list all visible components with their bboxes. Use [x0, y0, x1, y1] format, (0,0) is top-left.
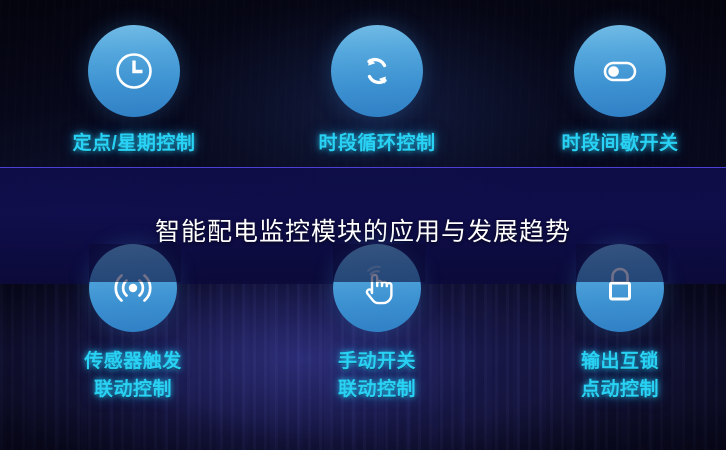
sensor-signal-icon [107, 262, 159, 314]
feature-tile-interlock[interactable]: 输出互锁 点动控制 [520, 244, 720, 403]
feature-tile-cycle[interactable]: 时段循环控制 [277, 25, 477, 158]
clock-icon [109, 46, 159, 96]
feature-label: 手动开关 联动控制 [277, 348, 477, 403]
feature-tile-intermittent[interactable]: 时段间歇开关 [520, 25, 720, 158]
feature-icon-circle [576, 244, 664, 332]
feature-tile-manual[interactable]: 手动开关 联动控制 [277, 244, 477, 403]
feature-icon-circle [574, 25, 666, 117]
slide-canvas: 定点/星期控制 时段循环控制 时段间歇开关 [0, 0, 726, 450]
page-title: 智能配电监控模块的应用与发展趋势 [0, 212, 726, 248]
toggle-switch-icon [594, 45, 646, 97]
hand-tap-icon [351, 262, 403, 314]
cycle-refresh-icon [352, 46, 402, 96]
feature-icon-circle [333, 244, 421, 332]
feature-label: 定点/星期控制 [34, 130, 234, 158]
feature-icon-circle [331, 25, 423, 117]
feature-label: 输出互锁 点动控制 [520, 348, 720, 403]
lock-icon [594, 262, 646, 314]
feature-icon-circle [89, 244, 177, 332]
feature-tile-sensor[interactable]: 传感器触发 联动控制 [33, 244, 233, 403]
feature-label: 时段循环控制 [277, 130, 477, 158]
feature-tile-schedule[interactable]: 定点/星期控制 [34, 25, 234, 158]
feature-label: 传感器触发 联动控制 [33, 348, 233, 403]
feature-label: 时段间歇开关 [520, 130, 720, 158]
feature-icon-circle [88, 25, 180, 117]
